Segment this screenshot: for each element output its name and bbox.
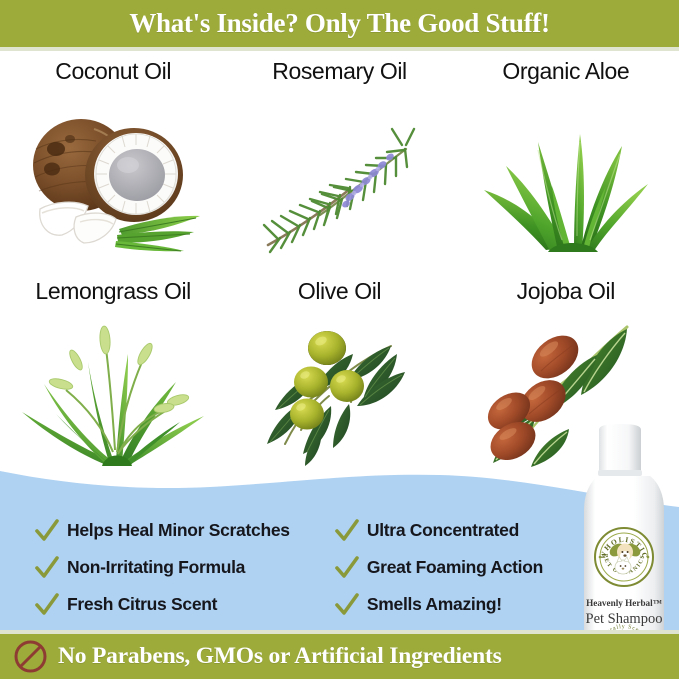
- benefit-label: Helps Heal Minor Scratches: [67, 520, 290, 541]
- ingredient-card-coconut: Coconut Oil: [0, 58, 226, 273]
- ingredient-card-aloe: Organic Aloe: [453, 58, 679, 273]
- benefit-item: Fresh Citrus Scent: [34, 590, 334, 619]
- ingredient-card-olive: Olive Oil: [226, 278, 452, 478]
- header-divider: [0, 47, 679, 51]
- olive-illustration: [226, 309, 452, 478]
- prohibition-icon: [13, 639, 48, 674]
- ingredient-label: Olive Oil: [298, 278, 381, 305]
- benefits-column-right: Ultra Concentrated Great Foaming Action …: [334, 516, 560, 619]
- benefit-item: Helps Heal Minor Scratches: [34, 516, 334, 545]
- benefit-label: Smells Amazing!: [367, 594, 502, 615]
- half-coconut: [85, 128, 183, 222]
- ingredient-label: Lemongrass Oil: [35, 278, 190, 305]
- ingredient-label: Jojoba Oil: [517, 278, 615, 305]
- lemongrass-illustration: [0, 309, 226, 478]
- ingredient-label: Coconut Oil: [55, 58, 171, 85]
- header-title: What's Inside? Only The Good Stuff!: [129, 8, 549, 39]
- rosemary-illustration: [226, 89, 452, 273]
- check-icon: [34, 519, 60, 543]
- aloe-leaves: [484, 134, 648, 252]
- benefit-label: Fresh Citrus Scent: [67, 594, 217, 615]
- aloe-illustration: [453, 89, 679, 273]
- benefit-item: Great Foaming Action: [334, 553, 560, 582]
- ingredient-label: Organic Aloe: [502, 58, 629, 85]
- ingredient-card-rosemary: Rosemary Oil: [226, 58, 452, 273]
- check-icon: [334, 556, 360, 580]
- olive-leaves: [267, 346, 405, 466]
- benefit-item: Non-Irritating Formula: [34, 553, 334, 582]
- check-icon: [34, 556, 60, 580]
- seed-heads: [48, 325, 190, 413]
- footer-banner: No Parabens, GMOs or Artificial Ingredie…: [0, 634, 679, 679]
- benefit-label: Ultra Concentrated: [367, 520, 519, 541]
- benefits-column-left: Helps Heal Minor Scratches Non-Irritatin…: [0, 516, 334, 619]
- header-banner: What's Inside? Only The Good Stuff!: [0, 0, 679, 47]
- footer-title: No Parabens, GMOs or Artificial Ingredie…: [58, 643, 502, 670]
- ingredient-row-1: Coconut Oil: [0, 58, 679, 273]
- benefit-label: Great Foaming Action: [367, 557, 543, 578]
- product-line-text: Heavenly Herbal™: [586, 598, 663, 608]
- benefit-item: Smells Amazing!: [334, 590, 560, 619]
- check-icon: [34, 593, 60, 617]
- lemongrass-blades: [22, 325, 204, 465]
- brand-seal-logo: WHOLISTIC PET ORGANICS: [595, 528, 653, 586]
- ingredient-label: Rosemary Oil: [272, 58, 407, 85]
- infographic-page: What's Inside? Only The Good Stuff! Coco…: [0, 0, 679, 679]
- check-icon: [334, 593, 360, 617]
- benefit-item: Ultra Concentrated: [334, 516, 560, 545]
- check-icon: [334, 519, 360, 543]
- benefit-label: Non-Irritating Formula: [67, 557, 245, 578]
- coconut-illustration: [0, 89, 226, 273]
- benefits-list: Helps Heal Minor Scratches Non-Irritatin…: [0, 516, 560, 619]
- ingredient-card-lemongrass: Lemongrass Oil: [0, 278, 226, 478]
